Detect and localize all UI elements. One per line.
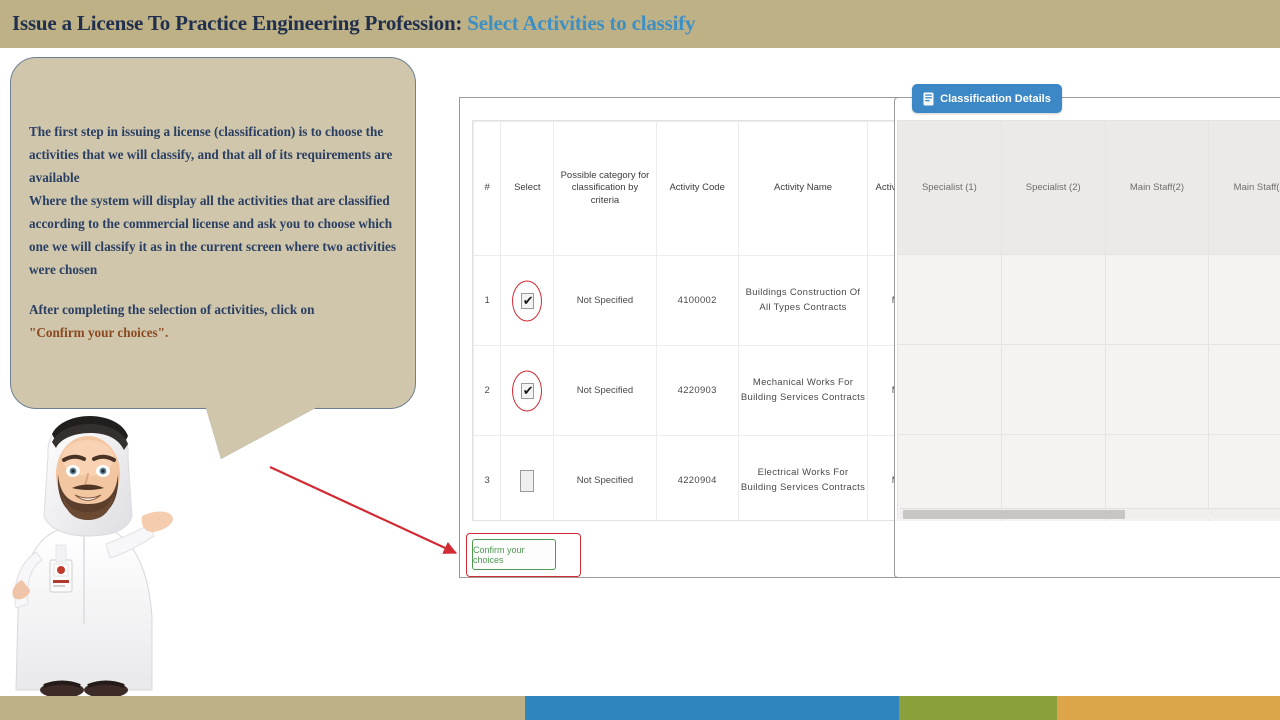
horizontal-scrollbar[interactable] xyxy=(900,508,1280,519)
activity-code-value: 4220903 xyxy=(656,346,738,436)
confirm-choices-button[interactable]: Confirm your choices xyxy=(472,539,556,570)
instruction-paragraph-3: After completing the selection of activi… xyxy=(29,298,405,344)
column-header-possible-category: Possible category for classification by … xyxy=(554,122,656,256)
row-number: 2 xyxy=(474,346,501,436)
instruction-paragraph-1: The first step in issuing a license (cla… xyxy=(29,120,405,189)
footer-color-bar xyxy=(0,696,1280,720)
classification-cell xyxy=(1209,255,1280,345)
page-title-main: Issue a License To Practice Engineering … xyxy=(12,11,467,35)
classification-cell xyxy=(1001,255,1105,345)
tab-classification-details-label: Classification Details xyxy=(940,93,1051,105)
classification-table: Specialist (1) Specialist (2) Main Staff… xyxy=(897,120,1280,521)
classification-column-specialist-1: Specialist (1) xyxy=(898,121,1002,255)
classification-cell xyxy=(1105,345,1209,435)
tab-classification-details[interactable]: Classification Details xyxy=(912,84,1062,113)
row-number: 1 xyxy=(474,256,501,346)
classification-cell xyxy=(1001,345,1105,435)
activity-name-value: Mechanical Works For Building Services C… xyxy=(738,346,868,436)
column-header-activity-code: Activity Code xyxy=(656,122,738,256)
footer-segment-tan xyxy=(0,696,525,720)
bubble-tail xyxy=(205,405,321,459)
select-checkbox[interactable] xyxy=(521,293,534,309)
classification-cell xyxy=(898,255,1002,345)
row-select-cell[interactable] xyxy=(501,436,554,522)
possible-category-value: Not Specified xyxy=(554,436,656,522)
footer-segment-green xyxy=(899,696,1057,720)
classification-table-body xyxy=(898,255,1280,522)
activity-code-value: 4100002 xyxy=(656,256,738,346)
classification-cell xyxy=(898,345,1002,435)
instruction-text: The first step in issuing a license (cla… xyxy=(29,120,405,344)
footer-segment-blue xyxy=(525,696,899,720)
column-header-num: # xyxy=(474,122,501,256)
select-checkbox[interactable] xyxy=(521,383,534,399)
column-header-activity-name: Activity Name xyxy=(738,122,868,256)
instruction-cta-text: "Confirm your choices". xyxy=(29,325,168,340)
row-number: 3 xyxy=(474,436,501,522)
footer-segment-amber xyxy=(1057,696,1280,720)
select-checkbox[interactable] xyxy=(520,470,534,492)
activity-name-value: Buildings Construction Of All Types Cont… xyxy=(738,256,868,346)
possible-category-value: Not Specified xyxy=(554,346,656,436)
instruction-paragraph-3-prefix: After completing the selection of activi… xyxy=(29,302,314,317)
classification-column-main-staff-2: Main Staff(2) xyxy=(1105,121,1209,255)
row-select-cell[interactable] xyxy=(501,346,554,436)
column-header-select: Select xyxy=(501,122,554,256)
scrollbar-thumb[interactable] xyxy=(903,510,1125,519)
possible-category-value: Not Specified xyxy=(554,256,656,346)
row-select-cell[interactable] xyxy=(501,256,554,346)
instruction-paragraph-2: Where the system will display all the ac… xyxy=(29,189,405,281)
classification-details-panel: Specialist (1) Specialist (2) Main Staff… xyxy=(894,97,1280,578)
instruction-bubble: The first step in issuing a license (cla… xyxy=(10,57,416,409)
classification-column-main-staff-3: Main Staff(3) xyxy=(1209,121,1280,255)
classification-cell xyxy=(1105,255,1209,345)
classification-header-row: Specialist (1) Specialist (2) Main Staff… xyxy=(898,121,1280,255)
classification-row xyxy=(898,345,1280,435)
classification-column-specialist-2: Specialist (2) xyxy=(1001,121,1105,255)
slide-canvas: Issue a License To Practice Engineering … xyxy=(0,0,1280,720)
classification-table-wrapper: Specialist (1) Specialist (2) Main Staff… xyxy=(897,120,1280,521)
classification-row xyxy=(898,255,1280,345)
activity-code-value: 4220904 xyxy=(656,436,738,522)
classification-cell xyxy=(1209,345,1280,435)
advisor-character-illustration xyxy=(2,412,192,700)
page-title-accent: Select Activities to classify xyxy=(467,11,695,35)
document-icon xyxy=(923,92,935,106)
page-title: Issue a License To Practice Engineering … xyxy=(12,11,695,36)
activity-name-value: Electrical Works For Building Services C… xyxy=(738,436,868,522)
